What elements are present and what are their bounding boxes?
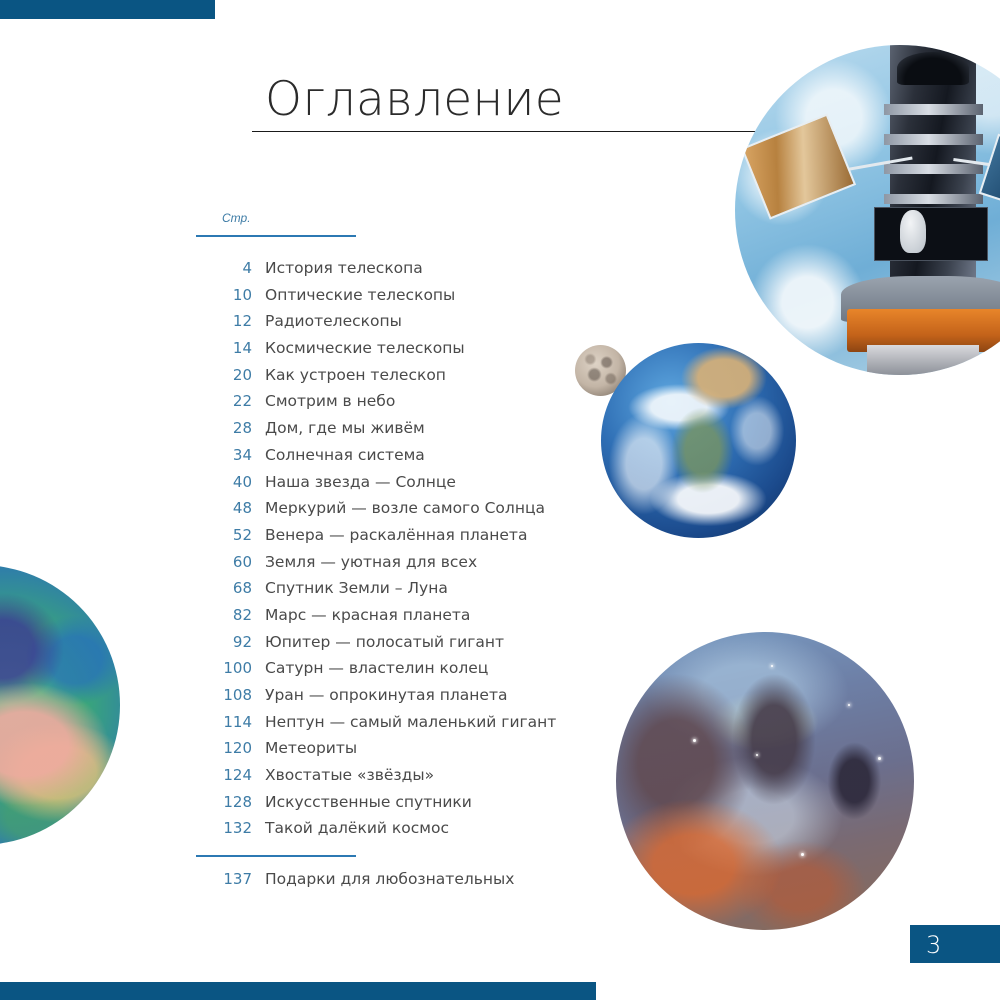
toc-bottom-rule xyxy=(196,855,356,857)
toc-entry-title: Сатурн — властелин колец xyxy=(265,659,488,677)
telescope-ring xyxy=(884,104,983,115)
toc-top-rule xyxy=(196,235,356,237)
toc-entry-title: Марс — красная планета xyxy=(265,606,470,624)
toc-entry[interactable]: 114Нептун — самый маленький гигант xyxy=(180,713,580,740)
toc-entry-page: 100 xyxy=(180,659,252,677)
astronaut xyxy=(900,210,926,253)
toc-entry-page: 128 xyxy=(180,793,252,811)
toc-entry-page: 22 xyxy=(180,392,252,410)
toc-entry-page: 108 xyxy=(180,686,252,704)
toc-list: 4История телескопа10Оптические телескопы… xyxy=(180,259,580,846)
toc-entry-title: Метеориты xyxy=(265,739,357,757)
toc-entry-page: 28 xyxy=(180,419,252,437)
page-number-value: 3 xyxy=(926,931,941,959)
toc-entry-title: Юпитер — полосатый гигант xyxy=(265,633,504,651)
page-column-label: Стр. xyxy=(222,211,251,225)
star xyxy=(878,757,881,760)
toc-entry[interactable]: 92Юпитер — полосатый гигант xyxy=(180,633,580,660)
toc-entry[interactable]: 52Венера — раскалённая планета xyxy=(180,526,580,553)
toc-entry-page: 20 xyxy=(180,366,252,384)
toc-entry-title: Как устроен телескоп xyxy=(265,366,446,384)
toc-entry[interactable]: 82Марс — красная планета xyxy=(180,606,580,633)
star xyxy=(756,754,758,756)
nebula-photo xyxy=(616,632,914,930)
toc-entry[interactable]: 20Как устроен телескоп xyxy=(180,366,580,393)
page-number-badge: 3 xyxy=(910,925,1000,963)
toc-entry[interactable]: 60Земля — уютная для всех xyxy=(180,553,580,580)
solar-panel-left xyxy=(741,113,856,219)
title-underline-rule xyxy=(252,131,810,132)
toc-entry-page: 12 xyxy=(180,312,252,330)
toc-entry-title: Спутник Земли – Луна xyxy=(265,579,448,597)
earth-photo xyxy=(601,343,796,538)
toc-entry-page: 60 xyxy=(180,553,252,571)
toc-entry[interactable]: 4История телескопа xyxy=(180,259,580,286)
toc-entry-page: 14 xyxy=(180,339,252,357)
toc-entry-page: 34 xyxy=(180,446,252,464)
toc-extra-list: 137Подарки для любознательных xyxy=(180,870,600,897)
toc-entry-title: Смотрим в небо xyxy=(265,392,395,410)
toc-entry-page: 137 xyxy=(180,870,252,888)
toc-entry-title: Искусственные спутники xyxy=(265,793,472,811)
toc-entry[interactable]: 28Дом, где мы живём xyxy=(180,419,580,446)
toc-entry-title: Оптические телескопы xyxy=(265,286,455,304)
toc-entry[interactable]: 22Смотрим в небо xyxy=(180,392,580,419)
toc-entry-page: 124 xyxy=(180,766,252,784)
toc-entry[interactable]: 128Искусственные спутники xyxy=(180,793,580,820)
toc-entry-page: 40 xyxy=(180,473,252,491)
telescope-aperture-door xyxy=(897,52,970,85)
telescope-instrument-bay xyxy=(874,207,988,262)
star xyxy=(848,704,850,706)
bottom-decoration-bar xyxy=(0,982,596,1000)
toc-entry-page: 4 xyxy=(180,259,252,277)
toc-entry[interactable]: 100Сатурн — властелин колец xyxy=(180,659,580,686)
toc-entry[interactable]: 34Солнечная система xyxy=(180,446,580,473)
shuttle-structure xyxy=(867,345,979,375)
toc-entry[interactable]: 68Спутник Земли – Луна xyxy=(180,579,580,606)
toc-page: Оглавление Стр. 4История телескопа10Опти… xyxy=(0,0,1000,1000)
venus-radar-map-photo xyxy=(0,565,120,845)
toc-entry-title: Уран — опрокинутая планета xyxy=(265,686,507,704)
telescope-ring xyxy=(884,164,983,175)
toc-entry-page: 10 xyxy=(180,286,252,304)
toc-entry-title: Наша звезда — Солнце xyxy=(265,473,456,491)
toc-entry-title: Подарки для любознательных xyxy=(265,870,514,888)
toc-entry[interactable]: 14Космические телескопы xyxy=(180,339,580,366)
toc-entry-page: 92 xyxy=(180,633,252,651)
toc-entry[interactable]: 132Такой далёкий космос xyxy=(180,819,580,846)
star xyxy=(801,853,804,856)
toc-entry[interactable]: 48Меркурий — возле самого Солнца xyxy=(180,499,580,526)
toc-entry-page: 48 xyxy=(180,499,252,517)
page-title: Оглавление xyxy=(265,72,564,127)
toc-entry-title: Меркурий — возле самого Солнца xyxy=(265,499,545,517)
toc-entry-title: Дом, где мы живём xyxy=(265,419,425,437)
toc-entry-title: Земля — уютная для всех xyxy=(265,553,477,571)
star xyxy=(693,739,696,742)
toc-entry-title: Нептун — самый маленький гигант xyxy=(265,713,556,731)
toc-entry-title: Хвостатые «звёзды» xyxy=(265,766,434,784)
toc-entry[interactable]: 108Уран — опрокинутая планета xyxy=(180,686,580,713)
star xyxy=(771,665,773,667)
toc-entry-page: 82 xyxy=(180,606,252,624)
telescope-ring xyxy=(884,194,983,205)
toc-entry-title: Космические телескопы xyxy=(265,339,465,357)
toc-entry-page: 114 xyxy=(180,713,252,731)
toc-entry-title: Венера — раскалённая планета xyxy=(265,526,527,544)
toc-entry-title: Радиотелескопы xyxy=(265,312,402,330)
toc-entry[interactable]: 124Хвостатые «звёзды» xyxy=(180,766,580,793)
hubble-space-telescope-photo xyxy=(735,45,1000,375)
toc-entry-page: 120 xyxy=(180,739,252,757)
toc-entry-page: 132 xyxy=(180,819,252,837)
toc-entry[interactable]: 137Подарки для любознательных xyxy=(180,870,600,897)
toc-entry[interactable]: 40Наша звезда — Солнце xyxy=(180,473,580,500)
top-decoration-bar xyxy=(0,0,215,19)
toc-entry-title: История телескопа xyxy=(265,259,423,277)
toc-entry-page: 52 xyxy=(180,526,252,544)
toc-entry-title: Солнечная система xyxy=(265,446,425,464)
toc-entry[interactable]: 120Метеориты xyxy=(180,739,580,766)
toc-entry-title: Такой далёкий космос xyxy=(265,819,449,837)
toc-entry[interactable]: 12Радиотелескопы xyxy=(180,312,580,339)
toc-entry[interactable]: 10Оптические телескопы xyxy=(180,286,580,313)
toc-entry-page: 68 xyxy=(180,579,252,597)
telescope-ring xyxy=(884,134,983,145)
